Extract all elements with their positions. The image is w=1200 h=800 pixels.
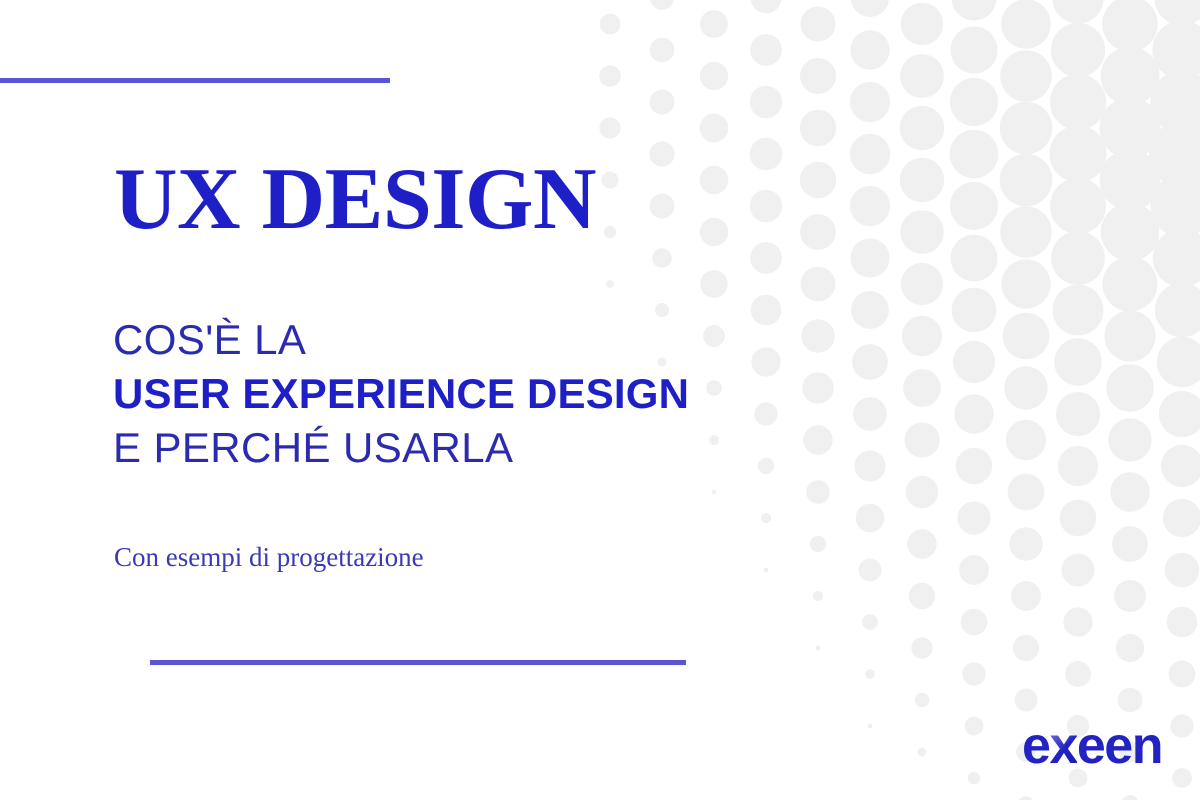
subtitle-line-2: USER EXPERIENCE DESIGN [113,367,753,421]
subtitle-line-1: COS'È LA [113,313,753,367]
logo-text-before: e [1022,720,1049,772]
content-column: UX DESIGN COS'È LA USER EXPERIENCE DESIG… [0,0,760,800]
exeen-logo: e x een [1022,720,1162,772]
subtitle-block: COS'È LA USER EXPERIENCE DESIGN E PERCHÉ… [113,313,753,475]
subtitle-line-3: E PERCHÉ USARLA [113,421,753,475]
caption-text: Con esempi di progettazione [114,540,424,574]
logo-text-after: een [1077,720,1162,772]
logo-accent-letter-x: x [1049,720,1076,772]
page-title: UX DESIGN [114,156,596,244]
cover-canvas: UX DESIGN COS'È LA USER EXPERIENCE DESIG… [0,0,1200,800]
